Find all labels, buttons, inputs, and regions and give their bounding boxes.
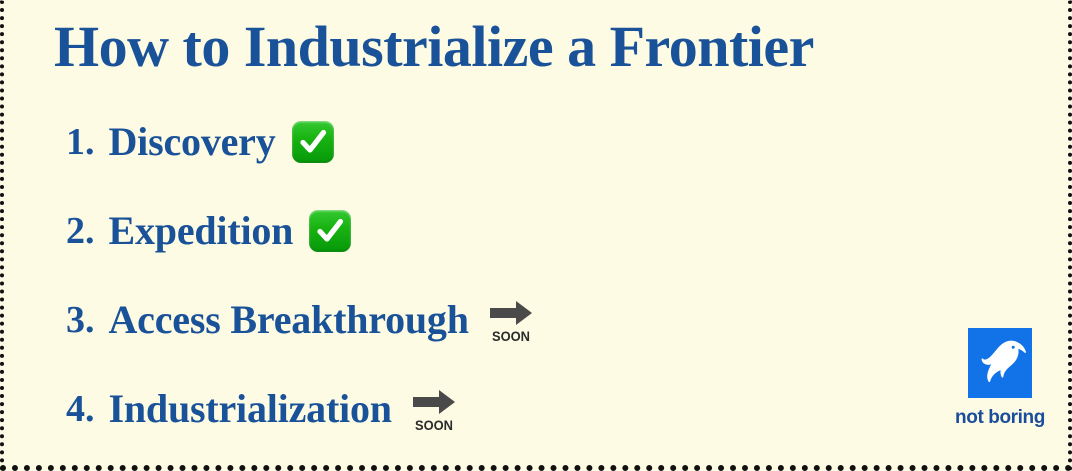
brand-logo: not boring: [935, 328, 1065, 427]
soon-arrow-icon: SOON: [408, 385, 460, 433]
white-check-mark-icon: [309, 210, 351, 252]
svg-text:SOON: SOON: [492, 328, 530, 344]
step-number: 1.: [66, 123, 95, 161]
steps-list: 1. Discovery 2. Expedition: [66, 111, 1026, 467]
step-label: Discovery: [109, 122, 276, 162]
shark-icon: [968, 328, 1032, 398]
list-item: 1. Discovery: [66, 111, 1026, 173]
step-number: 3.: [66, 301, 95, 339]
step-label: Expedition: [109, 211, 294, 251]
status-badge: [292, 121, 334, 163]
list-item: 2. Expedition: [66, 200, 1026, 262]
step-number: 4.: [66, 390, 95, 428]
step-label: Industrialization: [109, 389, 392, 429]
brand-name: not boring: [935, 408, 1065, 427]
step-number: 2.: [66, 212, 95, 250]
status-badge: SOON: [408, 385, 460, 433]
step-label: Access Breakthrough: [109, 300, 469, 340]
slide-canvas: How to Industrialize a Frontier 1. Disco…: [0, 0, 1072, 471]
white-check-mark-icon: [292, 121, 334, 163]
soon-arrow-icon: SOON: [485, 296, 537, 344]
list-item: 4. Industrialization SOON: [66, 378, 1026, 440]
svg-text:SOON: SOON: [415, 417, 453, 433]
page-title: How to Industrialize a Frontier: [54, 9, 1034, 85]
status-badge: [309, 210, 351, 252]
status-badge: SOON: [485, 296, 537, 344]
list-item: 3. Access Breakthrough SOON: [66, 289, 1026, 351]
